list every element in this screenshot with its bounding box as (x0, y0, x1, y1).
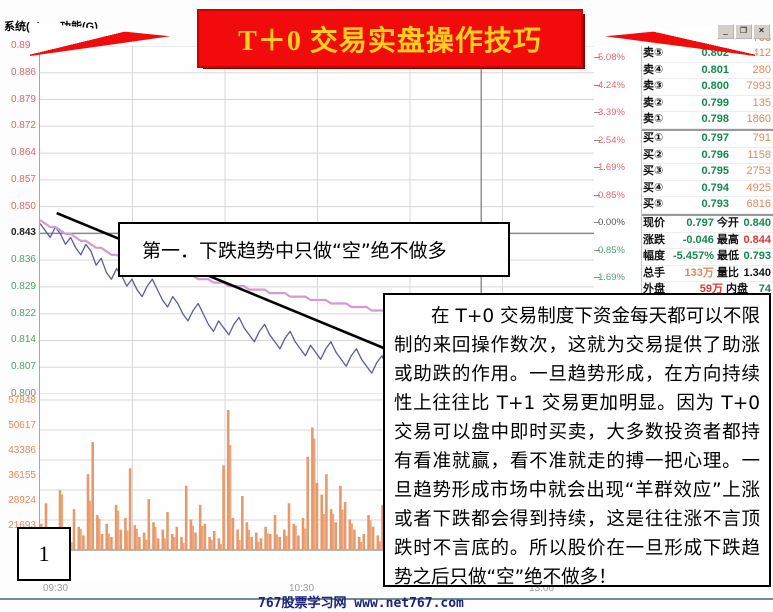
price-tick: 0.822 (11, 308, 36, 319)
info-key-2: 最高 (717, 233, 744, 249)
bid-row[interactable]: 买③0.7952753 (642, 164, 773, 181)
level-label: 卖① (642, 112, 677, 128)
level-label: 卖④ (642, 63, 677, 79)
level-label: 买③ (642, 164, 677, 180)
info-key: 现价 (642, 216, 673, 232)
level-qty: 1860 (729, 112, 773, 128)
site-watermark: 767股票学习网 www.net767.com (258, 592, 464, 611)
ask-row[interactable]: 卖①0.7981860 (642, 112, 773, 129)
percent-tick-mark (594, 222, 600, 223)
price-tick: 0.864 (11, 147, 36, 158)
price-tick: 0.857 (11, 174, 36, 185)
info-row: 现价0.797今开0.840 (642, 214, 773, 233)
level-price: 0.799 (677, 96, 729, 112)
level-qty: 4925 (729, 181, 773, 197)
quote-panel: 4763 5.08%4.24%3.39%2.54%1.69%0.85%0.00%… (594, 46, 773, 296)
percent-tick: 4.24% (598, 80, 625, 91)
info-value: 133万 (673, 266, 717, 282)
info-row: 幅度-5.457%最低0.793 (642, 249, 773, 266)
percent-tick: 1.69% (598, 162, 625, 173)
level-label: 买② (642, 148, 677, 164)
stock-terminal-window: 系统(S) 功能(G) _ ❐ ✕ 宝钢JTB1 宝钢JTB1 0.8930.8… (0, 0, 773, 612)
info-value-2: 1.340 (743, 266, 773, 282)
callout-rule-one: 第一．下跌趋势中只做“空”绝不做多 (118, 222, 510, 277)
level-label: 买④ (642, 181, 677, 197)
info-value-2: 0.840 (743, 216, 773, 232)
bid-row[interactable]: 买②0.7961158 (642, 148, 773, 165)
percent-tick-mark (594, 195, 600, 196)
percent-tick: 1.69% (598, 272, 625, 283)
minimize-button[interactable]: _ (717, 24, 734, 39)
level-label: 买⑤ (642, 197, 677, 213)
info-key-2: 最低 (717, 249, 743, 265)
level-price: 0.801 (677, 63, 729, 79)
close-button[interactable]: ✕ (753, 24, 770, 39)
level-price: 0.793 (677, 197, 729, 213)
bid-row[interactable]: 买⑤0.7936816 (642, 197, 773, 214)
info-value: -0.046 (673, 233, 717, 249)
title-banner: T＋0 交易实盘操作技巧 (197, 9, 585, 71)
level-qty: 280 (729, 63, 773, 79)
marker-number-box: 1 (17, 527, 71, 581)
restore-button[interactable]: ❐ (735, 24, 752, 39)
percent-tick: 0.85% (598, 245, 625, 256)
percent-tick-mark (594, 277, 600, 278)
price-tick: 0.850 (11, 201, 36, 212)
ask-row[interactable]: 卖④0.801280 (642, 63, 773, 80)
level-qty: 6816 (729, 197, 773, 213)
level-price: 0.800 (677, 79, 729, 95)
bid-row[interactable]: 买①0.797791 (642, 129, 773, 148)
percent-tick-mark (594, 167, 600, 168)
callout-rule-one-text: 第一．下跌趋势中只做“空”绝不做多 (120, 236, 447, 263)
percent-tick-mark (594, 140, 600, 141)
volume-tick: 28924 (8, 495, 36, 506)
level-qty: 135 (729, 96, 773, 112)
callout-explanation: 在 T+0 交易制度下资金每天都可以不限制的来回操作数次，这就为交易提供了助涨或… (383, 293, 771, 587)
info-row: 涨跌-0.046最高0.844 (642, 233, 773, 250)
volume-tick: 50617 (8, 420, 36, 431)
price-tick: 0.836 (11, 254, 36, 265)
level-price: 0.795 (677, 164, 729, 180)
bid-row[interactable]: 买④0.7944925 (642, 181, 773, 198)
level-price: 0.794 (677, 181, 729, 197)
level-qty: 2753 (729, 164, 773, 180)
price-tick: 0.843 (11, 227, 36, 238)
order-book: 卖⑤0.8027412卖④0.801280卖③0.8007993卖②0.7991… (642, 46, 773, 316)
level-price: 0.796 (677, 148, 729, 164)
level-label: 卖⑤ (642, 46, 677, 62)
callout-explanation-text: 在 T+0 交易制度下资金每天都可以不限制的来回操作数次，这就为交易提供了助涨或… (394, 302, 760, 592)
price-tick: 0.829 (11, 281, 36, 292)
percent-tick-mark (594, 250, 600, 251)
level-label: 买① (642, 131, 677, 147)
info-row: 总手133万量比1.340 (642, 266, 773, 283)
percent-tick-mark (594, 57, 600, 58)
ask-row[interactable]: 卖③0.8007993 (642, 79, 773, 96)
percent-axis: 5.08%4.24%3.39%2.54%1.69%0.85%0.00%0.85%… (594, 46, 642, 296)
window-controls: _ ❐ ✕ (717, 24, 770, 39)
ask-row[interactable]: 卖②0.799135 (642, 96, 773, 113)
info-value: 0.797 (673, 216, 717, 232)
info-value-2: 0.844 (743, 233, 773, 249)
price-tick: 0.814 (11, 334, 36, 345)
y-axis-labels: 0.8930.8860.8790.8720.8640.8570.8500.843… (0, 46, 39, 581)
level-qty: 791 (729, 131, 773, 147)
info-key-2: 今开 (717, 216, 744, 232)
info-key-2: 量比 (717, 266, 744, 282)
percent-tick: 2.54% (598, 135, 625, 146)
info-key: 幅度 (642, 249, 673, 265)
percent-tick: 0.00% (598, 217, 625, 228)
level-price: 0.797 (677, 131, 729, 147)
price-tick: 0.879 (11, 94, 36, 105)
percent-tick: 3.39% (598, 107, 625, 118)
level-price: 0.798 (677, 112, 729, 128)
level-label: 卖③ (642, 79, 677, 95)
price-tick: 0.872 (11, 120, 36, 131)
percent-tick: 0.85% (598, 190, 625, 201)
banner-title-text: T＋0 交易实盘操作技巧 (238, 19, 542, 59)
info-key: 总手 (642, 266, 673, 282)
marker-number-text: 1 (39, 541, 50, 567)
banner-body: T＋0 交易实盘操作技巧 (197, 9, 583, 68)
time-tick: 09:30 (43, 583, 68, 594)
volume-tick: 57848 (8, 395, 36, 406)
level-qty: 1158 (729, 148, 773, 164)
volume-tick: 43386 (8, 445, 36, 456)
info-value: -5.457% (673, 249, 717, 265)
level-qty: 7993 (729, 79, 773, 95)
percent-tick-mark (594, 85, 600, 86)
level-label: 卖② (642, 96, 677, 112)
info-key: 涨跌 (642, 233, 673, 249)
price-tick: 0.807 (11, 361, 36, 372)
percent-tick: 5.08% (598, 52, 625, 63)
price-tick: 0.886 (11, 67, 36, 78)
volume-tick: 36155 (8, 470, 36, 481)
info-value-2: 0.793 (743, 249, 773, 265)
percent-tick-mark (594, 112, 600, 113)
